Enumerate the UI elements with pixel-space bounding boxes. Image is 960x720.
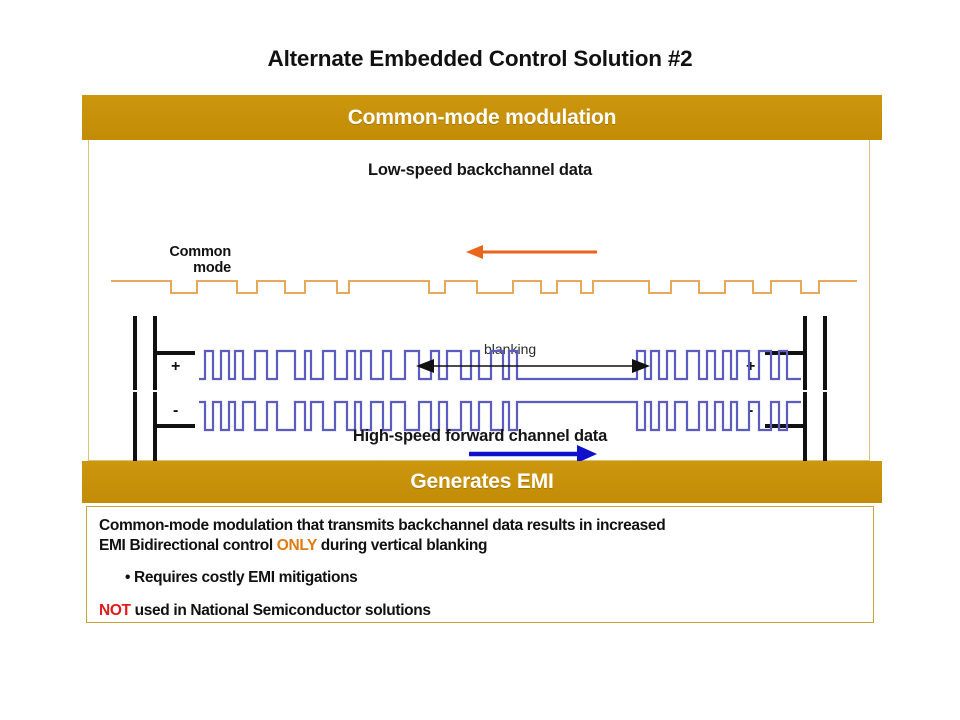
diagram-panel: Low-speed backchannel data Common mode b… (88, 140, 870, 461)
notes-not-highlight: NOT (99, 602, 131, 619)
backchannel-arrow-icon (466, 245, 597, 259)
figure-footer-label: Generates EMI (410, 470, 553, 494)
capacitor-left-plus-icon (135, 316, 195, 390)
notes-line-2-pre: EMI Bidirectional control (99, 537, 277, 554)
blanking-arrow-icon (416, 359, 650, 373)
waveform-diagram: Low-speed backchannel data Common mode b… (89, 140, 869, 460)
figure-header-label: Common-mode modulation (348, 106, 617, 130)
notes-line-3-post: used in National Semiconductor solutions (131, 602, 431, 619)
forward-channel-arrow-icon (469, 445, 597, 461)
data-trace-positive (199, 351, 801, 379)
forward-channel-caption: High-speed forward channel data (89, 427, 871, 446)
common-mode-trace (111, 281, 857, 293)
waveform-svg (89, 140, 871, 461)
notes-line-1: Common-mode modulation that transmits ba… (99, 516, 861, 536)
figure-footer-bar: Generates EMI (82, 461, 882, 503)
notes-box: Common-mode modulation that transmits ba… (86, 506, 874, 623)
notes-line-2-post: during vertical blanking (317, 537, 487, 554)
data-trace-negative (199, 402, 801, 430)
notes-line-3: NOT used in National Semiconductor solut… (99, 601, 861, 621)
page-title: Alternate Embedded Control Solution #2 (0, 46, 960, 72)
notes-bullet-1: • Requires costly EMI mitigations (99, 568, 861, 588)
notes-only-highlight: ONLY (277, 537, 317, 554)
figure-container: Common-mode modulation Low-speed backcha… (82, 95, 882, 627)
notes-line-2: EMI Bidirectional control ONLY during ve… (99, 536, 861, 556)
figure-header-bar: Common-mode modulation (82, 95, 882, 140)
